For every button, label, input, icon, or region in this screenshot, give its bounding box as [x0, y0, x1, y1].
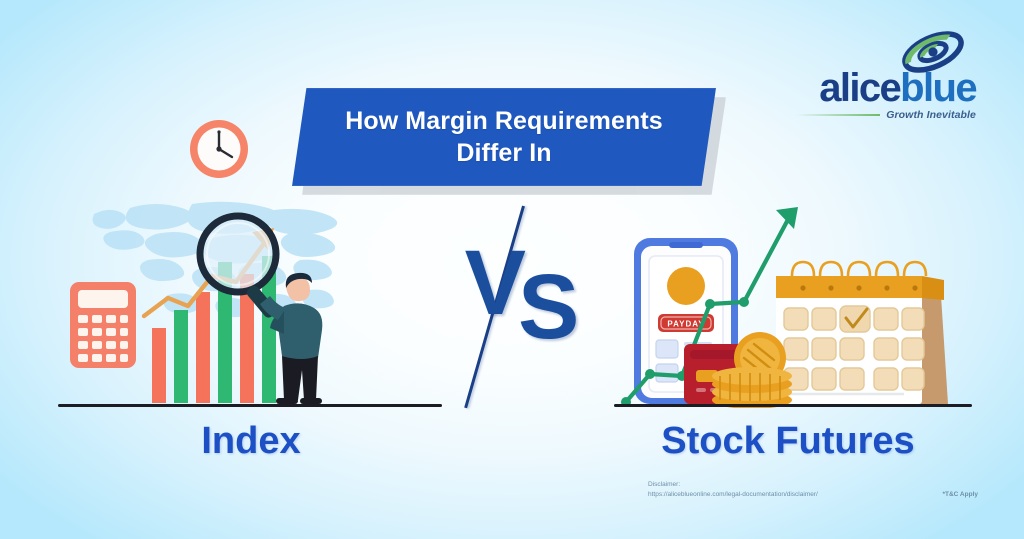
title-banner: How Margin Requirements Differ In: [292, 88, 716, 186]
brand-name-part2: blue: [900, 66, 976, 110]
label-stock-futures: Stock Futures: [606, 420, 970, 463]
calendar-icon: [776, 262, 948, 404]
brand-logo[interactable]: aliceblue Growth Inevitable: [786, 30, 976, 126]
stock-futures-ground-line: [614, 404, 972, 407]
brand-tagline: Growth Inevitable: [886, 109, 976, 121]
terms-and-conditions-note: *T&C Apply: [942, 490, 978, 500]
brand-tagline-rule: [796, 114, 880, 116]
label-index: Index: [130, 420, 372, 463]
page-title: How Margin Requirements Differ In: [292, 88, 716, 186]
versus-divider: VS: [462, 212, 602, 408]
clock-icon: [188, 118, 250, 180]
brand-tagline-row: Growth Inevitable: [796, 109, 976, 121]
disclaimer-block: Disclaimer: https://aliceblueonline.com/…: [648, 480, 978, 500]
versus-label: VS: [462, 252, 602, 331]
brand-wordmark: aliceblue: [786, 68, 976, 108]
versus-letter-v: V: [465, 232, 520, 334]
infographic-canvas: How Margin Requirements Differ In aliceb…: [0, 0, 1024, 539]
calculator-icon: [70, 282, 136, 368]
index-ground-line: [58, 404, 442, 407]
page-title-line-2: Differ In: [456, 137, 551, 169]
disclaimer-heading: Disclaimer:: [648, 480, 818, 490]
versus-letter-s: S: [518, 256, 573, 358]
brand-name-part1: alice: [819, 66, 900, 110]
index-illustration: [52, 198, 452, 408]
disclaimer-url[interactable]: https://aliceblueonline.com/legal-docume…: [648, 490, 818, 500]
disclaimer-text: Disclaimer: https://aliceblueonline.com/…: [648, 480, 818, 500]
stock-futures-illustration: PAYDAY: [612, 198, 972, 408]
page-title-line-1: How Margin Requirements: [345, 105, 663, 137]
